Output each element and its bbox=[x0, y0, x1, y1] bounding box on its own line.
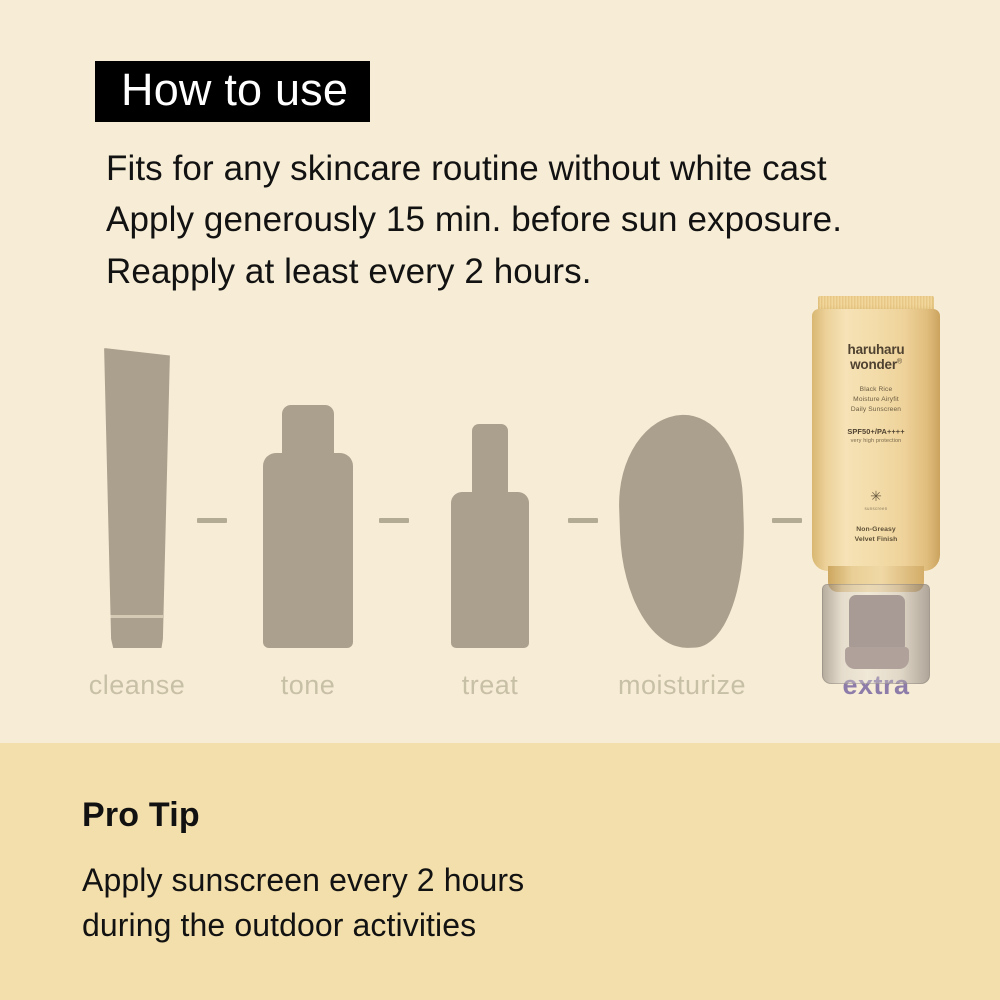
routine-steps-strip: cleanse tone treat bbox=[0, 290, 1000, 710]
sun-burst-icon: ✳ bbox=[870, 489, 882, 503]
product-description: Black Rice Moisture Airyfit Daily Sunscr… bbox=[851, 385, 901, 415]
routine-step-extra: haruharu wonder® Black Rice Moisture Air… bbox=[786, 290, 966, 710]
pro-tip-title: Pro Tip bbox=[82, 796, 200, 835]
tube-silhouette-icon bbox=[102, 348, 172, 648]
routine-step-cleanse: cleanse bbox=[47, 290, 227, 710]
jar-blob-silhouette-icon bbox=[616, 413, 748, 650]
pro-tip-panel: Pro Tip Apply sunscreen every 2 hours du… bbox=[0, 743, 1000, 1000]
how-to-use-banner: How to use bbox=[95, 61, 370, 122]
tube-cap bbox=[822, 584, 930, 684]
routine-step-tone: tone bbox=[218, 290, 398, 710]
tone-illustration bbox=[218, 290, 398, 660]
product-spf-subtext: very high protection bbox=[851, 438, 902, 444]
product-description-line-2: Moisture Airyfit bbox=[851, 395, 901, 405]
sunscreen-tube-icon: haruharu wonder® Black Rice Moisture Air… bbox=[812, 296, 940, 656]
how-to-use-panel: How to use Fits for any skincare routine… bbox=[0, 0, 1000, 743]
extra-illustration: haruharu wonder® Black Rice Moisture Air… bbox=[786, 290, 966, 660]
routine-step-label-treat: treat bbox=[462, 660, 519, 710]
product-finish-line-2: Velvet Finish bbox=[855, 535, 898, 546]
pro-tip-line-2: during the outdoor activities bbox=[82, 903, 524, 948]
treat-illustration bbox=[400, 290, 580, 660]
product-description-line-3: Daily Sunscreen bbox=[851, 405, 901, 415]
registered-trademark-icon: ® bbox=[897, 359, 902, 366]
tube-cap-ring bbox=[845, 647, 909, 669]
product-brand-line-2-wrap: wonder® bbox=[848, 357, 905, 372]
pro-tip-body: Apply sunscreen every 2 hours during the… bbox=[82, 858, 524, 949]
product-description-line-1: Black Rice bbox=[851, 385, 901, 395]
cleanse-illustration bbox=[47, 290, 227, 660]
product-finish-line-1: Non-Greasy bbox=[855, 525, 898, 536]
product-brand-line-2: wonder bbox=[850, 357, 897, 372]
instruction-line-2: Apply generously 15 min. before sun expo… bbox=[106, 194, 926, 245]
product-brand-line-1: haruharu bbox=[848, 342, 905, 357]
pro-tip-line-1: Apply sunscreen every 2 hours bbox=[82, 858, 524, 903]
routine-step-label-moisturize: moisturize bbox=[618, 660, 746, 710]
instruction-line-1: Fits for any skincare routine without wh… bbox=[106, 143, 926, 194]
dropper-silhouette-icon bbox=[451, 424, 529, 648]
instructions-block: Fits for any skincare routine without wh… bbox=[106, 143, 926, 297]
product-brand: haruharu wonder® bbox=[848, 342, 905, 372]
product-label: haruharu wonder® Black Rice Moisture Air… bbox=[812, 342, 940, 546]
routine-step-label-cleanse: cleanse bbox=[89, 660, 186, 710]
product-spf-rating: SPF50+/PA++++ bbox=[847, 427, 904, 436]
product-emblem-subtext: sunscreen bbox=[865, 506, 888, 511]
bottle-silhouette-icon bbox=[263, 405, 353, 648]
moisturize-illustration bbox=[592, 290, 772, 660]
routine-step-label-tone: tone bbox=[281, 660, 336, 710]
how-to-use-banner-label: How to use bbox=[121, 67, 348, 112]
routine-step-moisturize: moisturize bbox=[592, 290, 772, 710]
routine-step-treat: treat bbox=[400, 290, 580, 710]
product-finish-claim: Non-Greasy Velvet Finish bbox=[855, 525, 898, 546]
